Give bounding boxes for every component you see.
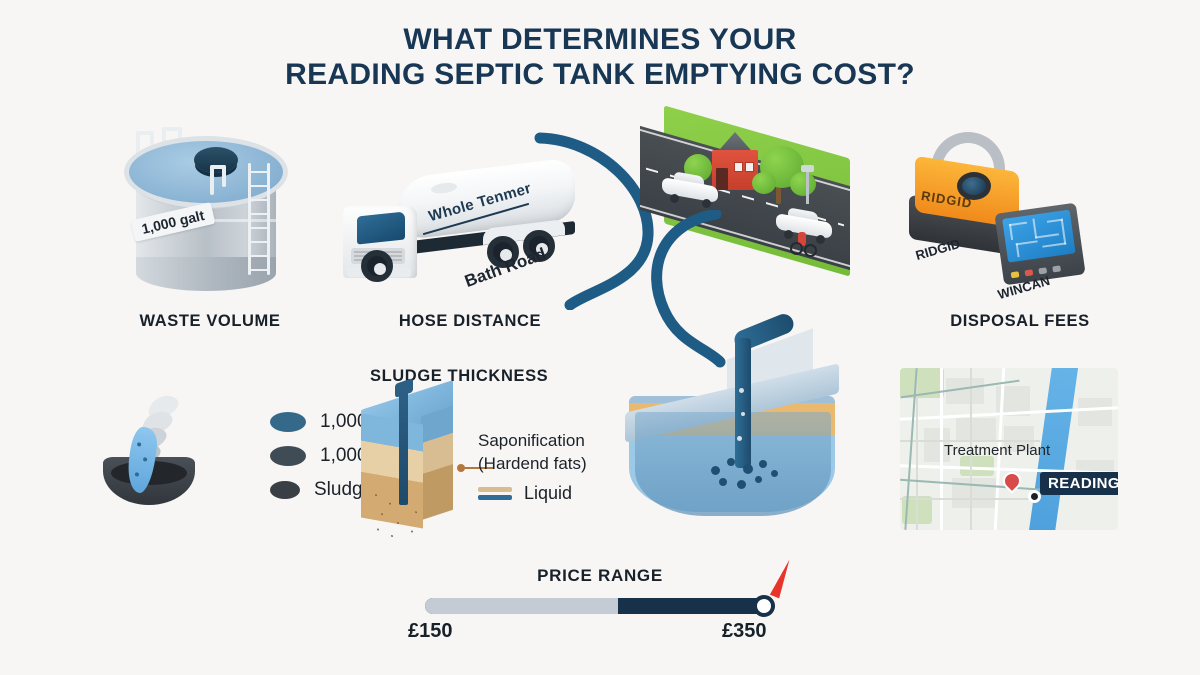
sludge-thickness-illustration [355,395,465,535]
disposal-fees-illustration: RIDGID RIDGID WINCAN [905,130,1105,290]
inspection-monitor [994,203,1085,286]
caption-disposal-fees: DISPOSAL FEES [870,312,1170,331]
treatment-plant-label: Treatment Plant [944,442,1050,459]
price-range-slider[interactable] [425,598,775,614]
waste-volume-illustration: 1,000 galt [118,125,303,295]
street-lamp-icon [806,170,809,204]
price-max-label: £350 [722,620,767,643]
suction-hose-icon [735,338,751,468]
truck-wheel [361,250,393,282]
title-line-1: WHAT DETERMINES YOUR [403,23,796,56]
legend-swatch [270,446,306,466]
windshield-icon [357,211,405,244]
reading-map[interactable]: Treatment Plant READING [900,368,1118,530]
page-title: WHAT DETERMINES YOUR READING SEPTIC TANK… [0,22,1200,93]
tank-cutaway-illustration [615,340,865,540]
sludge-probe-icon [399,389,408,505]
car-icon [662,174,718,198]
price-range-title: PRICE RANGE [0,566,1200,586]
infographic-canvas: WHAT DETERMINES YOUR READING SEPTIC TANK… [0,0,1200,675]
caption-hose-distance: HOSE DISTANCE [320,312,620,331]
tree-icon [752,172,776,194]
sludge-block-side [421,406,453,520]
liquid-legend-swatch [478,484,512,503]
location-pin-icon[interactable] [999,468,1024,493]
sludge-texture [371,489,425,545]
caption-waste-volume: WASTE VOLUME [60,312,360,331]
tank-hatch-icon [194,147,238,173]
liquid-legend-label: Liquid [524,483,572,504]
legend-swatch [270,481,300,499]
reel-hub-icon [957,172,991,200]
liquid-legend: Liquid [478,483,572,504]
monitor-screen [1002,210,1075,263]
title-line-2: READING SEPTIC TANK EMPTYING COST? [0,57,1200,92]
sludge-block-face [361,414,423,529]
tank-ladder-icon [246,163,272,275]
price-range-unfilled [425,598,618,614]
legend-swatch [270,412,306,432]
price-min-label: £150 [408,620,453,643]
city-badge: READING [1040,472,1118,495]
sludge-sample-illustration [95,395,215,515]
price-range-handle[interactable] [753,595,775,617]
tree-icon [790,172,816,196]
